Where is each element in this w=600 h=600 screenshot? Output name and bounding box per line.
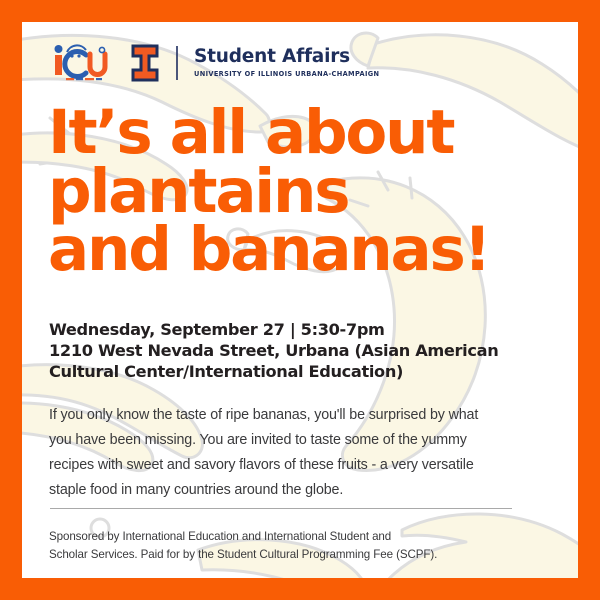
student-affairs-title: Student Affairs	[194, 48, 379, 67]
student-affairs-subtitle: UNIVERSITY OF ILLINOIS URBANA-CHAMPAIGN	[194, 71, 379, 78]
headline-line-1: It’s all about	[48, 104, 568, 163]
description-line-1: If you only know the taste of ripe banan…	[49, 403, 557, 428]
poster-content: Student Affairs UNIVERSITY OF ILLINOIS U…	[22, 22, 578, 578]
event-poster: Student Affairs UNIVERSITY OF ILLINOIS U…	[0, 0, 600, 600]
headline-line-2: plantains	[48, 163, 568, 222]
description-line-4: staple food in many countries around the…	[49, 478, 557, 503]
student-affairs-lockup: Student Affairs UNIVERSITY OF ILLINOIS U…	[194, 48, 379, 78]
headline: It’s all about plantains and bananas!	[48, 104, 568, 280]
event-details: Wednesday, September 27 | 5:30-7pm 1210 …	[49, 319, 559, 382]
description-line-3: recipes with sweet and savory flavors of…	[49, 453, 557, 478]
logo-bar: Student Affairs UNIVERSITY OF ILLINOIS U…	[50, 40, 379, 86]
sponsor-line-1: Sponsored by International Education and…	[49, 528, 549, 546]
headline-line-3: and bananas!	[48, 221, 568, 280]
logo-divider	[176, 46, 178, 80]
description-line-2: you have been missing. You are invited t…	[49, 428, 557, 453]
sponsor-line-2: Scholar Services. Paid for by the Studen…	[49, 546, 549, 564]
poster-canvas: Student Affairs UNIVERSITY OF ILLINOIS U…	[22, 22, 578, 578]
event-datetime: Wednesday, September 27 | 5:30-7pm	[49, 319, 559, 340]
event-address-line-2: Cultural Center/International Education)	[49, 361, 559, 382]
sponsor-footer: Sponsored by International Education and…	[49, 528, 549, 564]
block-i-logo	[130, 43, 160, 83]
footer-divider	[50, 508, 512, 509]
icu-logo	[50, 43, 112, 83]
event-address-line-1: 1210 West Nevada Street, Urbana (Asian A…	[49, 340, 559, 361]
event-description: If you only know the taste of ripe banan…	[49, 403, 557, 504]
